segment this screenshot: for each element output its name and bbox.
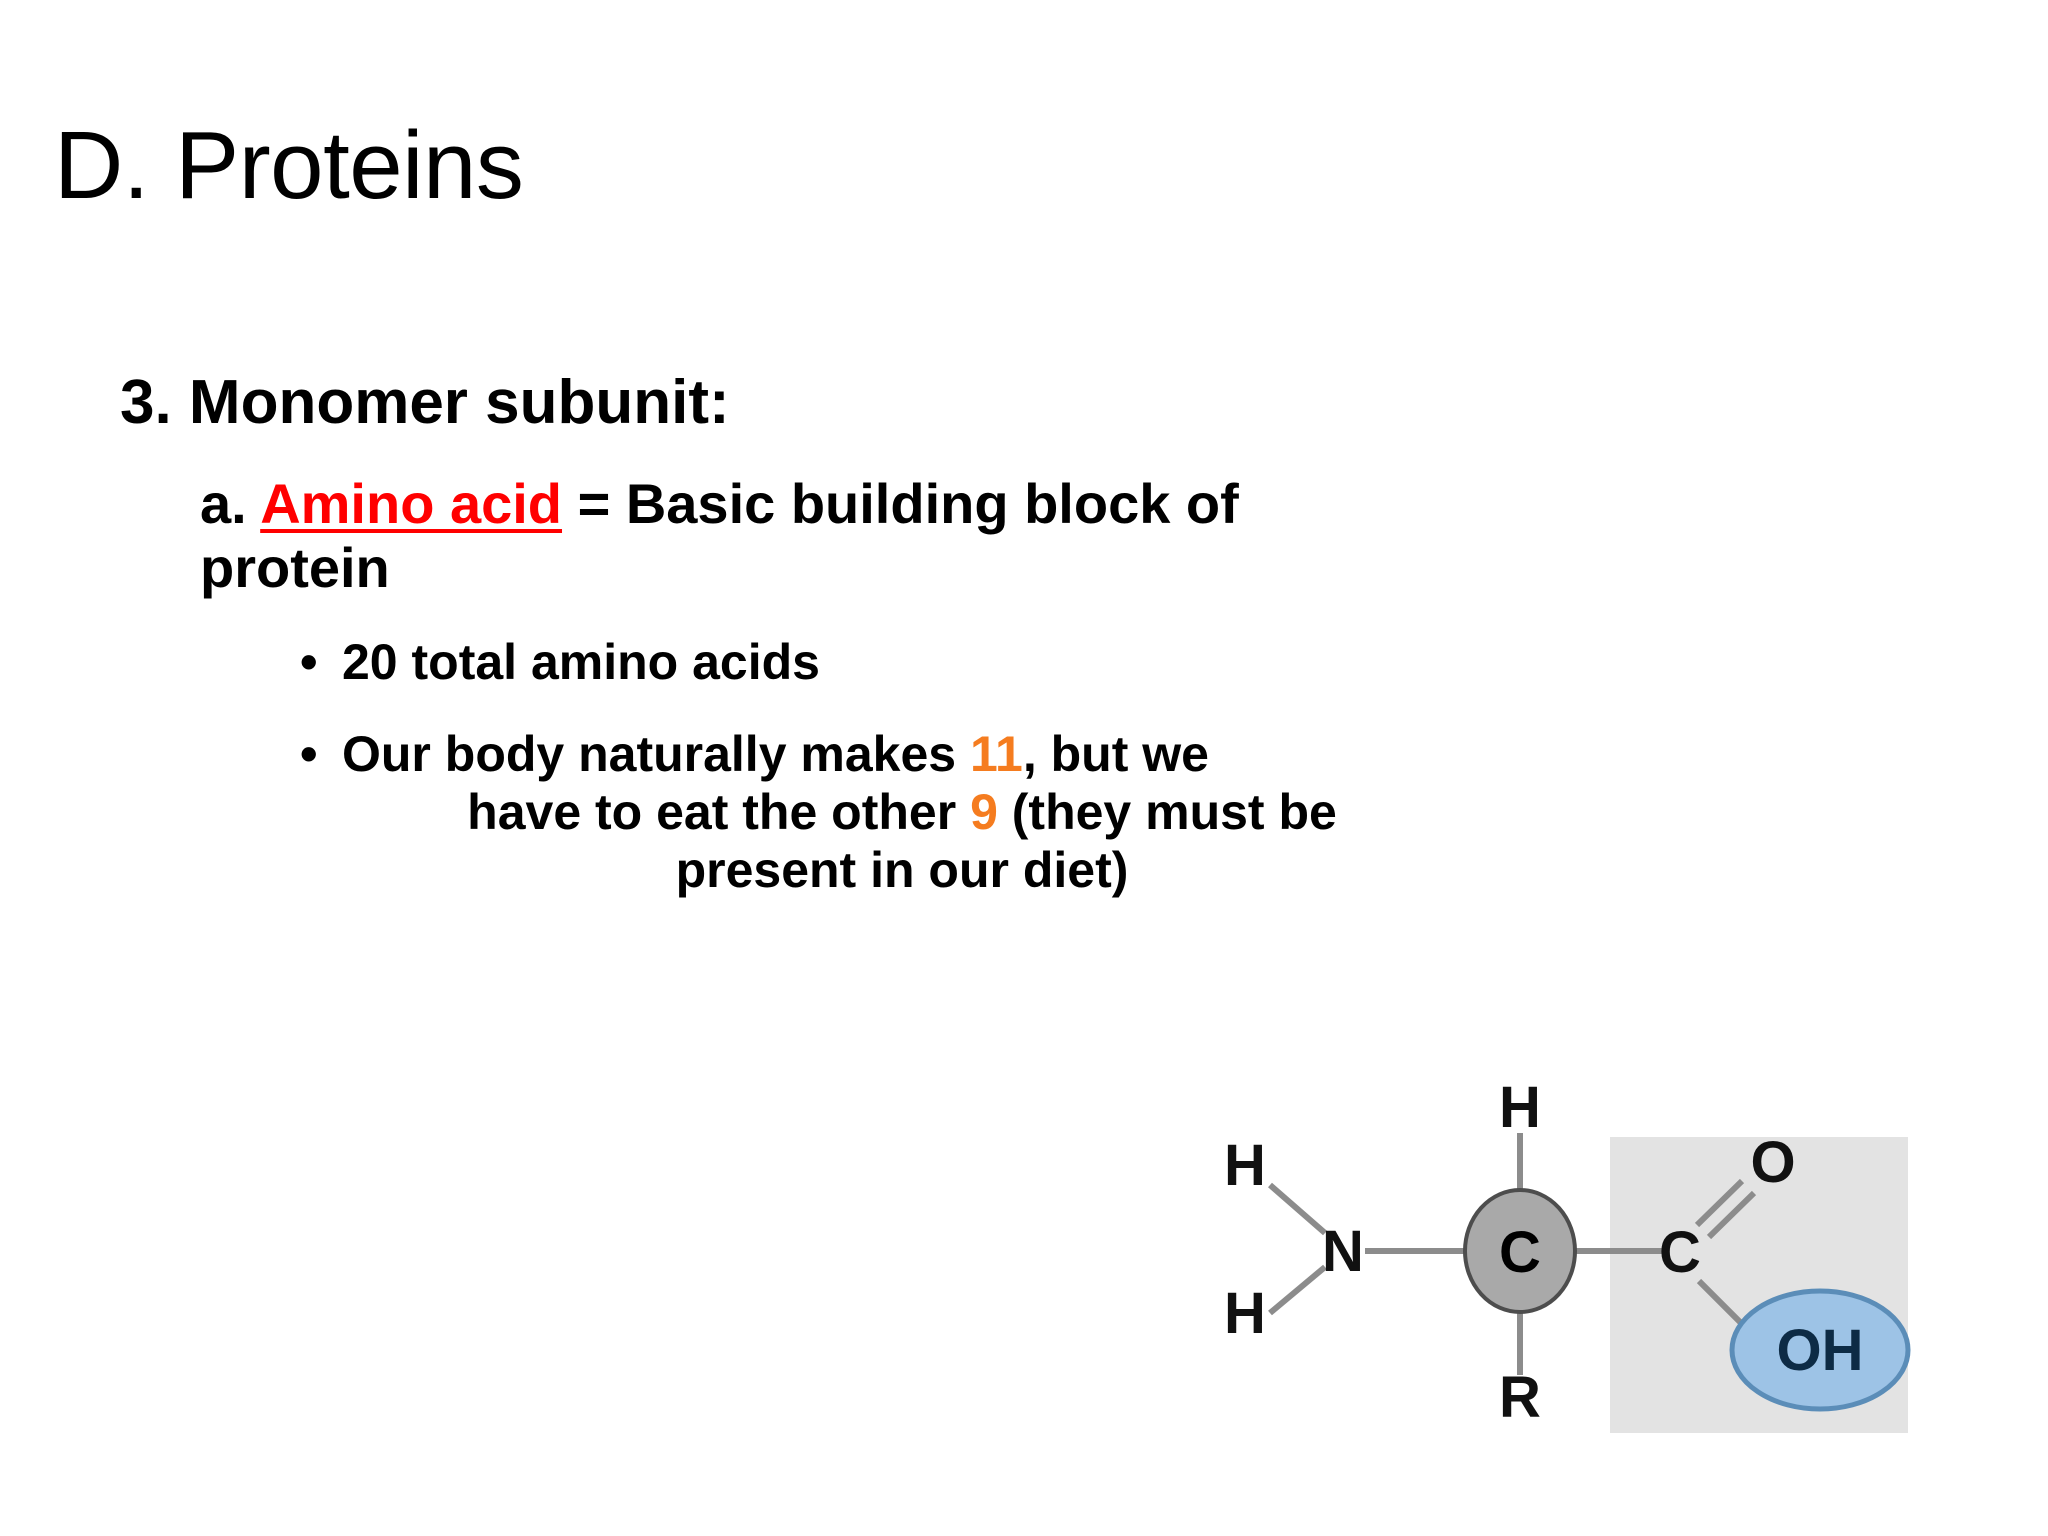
atom-label-alpha-h: H [1499, 1085, 1541, 1140]
page-title: D. Proteins [54, 118, 523, 214]
atom-label-nitrogen: N [1322, 1219, 1364, 1284]
amino-acid-diagram: H H N H C R C O OH [1175, 1085, 1935, 1485]
list-item: • 20 total amino acids [300, 633, 1900, 691]
slide-body: 3. Monomer subunit: a. Amino acid = Basi… [0, 370, 1900, 899]
atom-label-amine-h-bottom: H [1224, 1281, 1266, 1346]
atom-label-hydroxyl: OH [1777, 1318, 1864, 1383]
bullet-dot-icon: • [300, 725, 342, 783]
list-marker-a: a. [200, 472, 260, 535]
bullet2-line2-part3: (they must be [998, 784, 1337, 840]
bullet2-line1-part1: Our body naturally makes [342, 726, 970, 782]
bond-h-n-upper [1270, 1185, 1325, 1233]
atom-label-alpha-carbon: C [1499, 1220, 1541, 1285]
bullet2-line2-part1: have to eat the other [467, 784, 970, 840]
list-item-text: 20 total amino acids [342, 633, 1462, 691]
bullet1-segment-1: 20 total amino acids [342, 634, 820, 690]
slide-canvas: D. Proteins 3. Monomer subunit: a. Amino… [0, 0, 2048, 1536]
outline-level2-definition: a. Amino acid = Basic building block of … [200, 472, 1620, 600]
bullet2-line3-part1: present in our diet) [676, 842, 1129, 898]
list-item-text: Our body naturally makes 11, but we have… [342, 725, 1462, 899]
bond-h-n-lower [1270, 1267, 1325, 1313]
atom-label-carboxyl-carbon: C [1659, 1220, 1701, 1285]
list-item: • Our body naturally makes 11, but we ha… [300, 725, 1900, 899]
definition-continuation: protein [200, 536, 1620, 600]
atom-label-carbonyl-oxygen: O [1750, 1130, 1795, 1195]
bullet2-line2: have to eat the other 9 (they must be [342, 783, 1462, 841]
outline-level1-heading: 3. Monomer subunit: [120, 370, 1900, 436]
term-amino-acid: Amino acid [260, 472, 562, 535]
bullet-dot-icon: • [300, 633, 342, 691]
amino-acid-structure-svg: H H N H C R C O OH [1175, 1085, 1935, 1485]
atom-label-r-group: R [1499, 1365, 1541, 1430]
atom-label-amine-h-top: H [1224, 1133, 1266, 1198]
bullet2-count-nonessential: 11 [970, 726, 1023, 782]
bullet2-line1-part3: , but we [1023, 726, 1209, 782]
sub-bullet-list: • 20 total amino acids • Our body natura… [300, 633, 1900, 899]
definition-text: = Basic building block of [562, 472, 1239, 535]
bullet2-line3: present in our diet) [342, 841, 1462, 899]
bullet2-count-essential: 9 [970, 784, 998, 840]
